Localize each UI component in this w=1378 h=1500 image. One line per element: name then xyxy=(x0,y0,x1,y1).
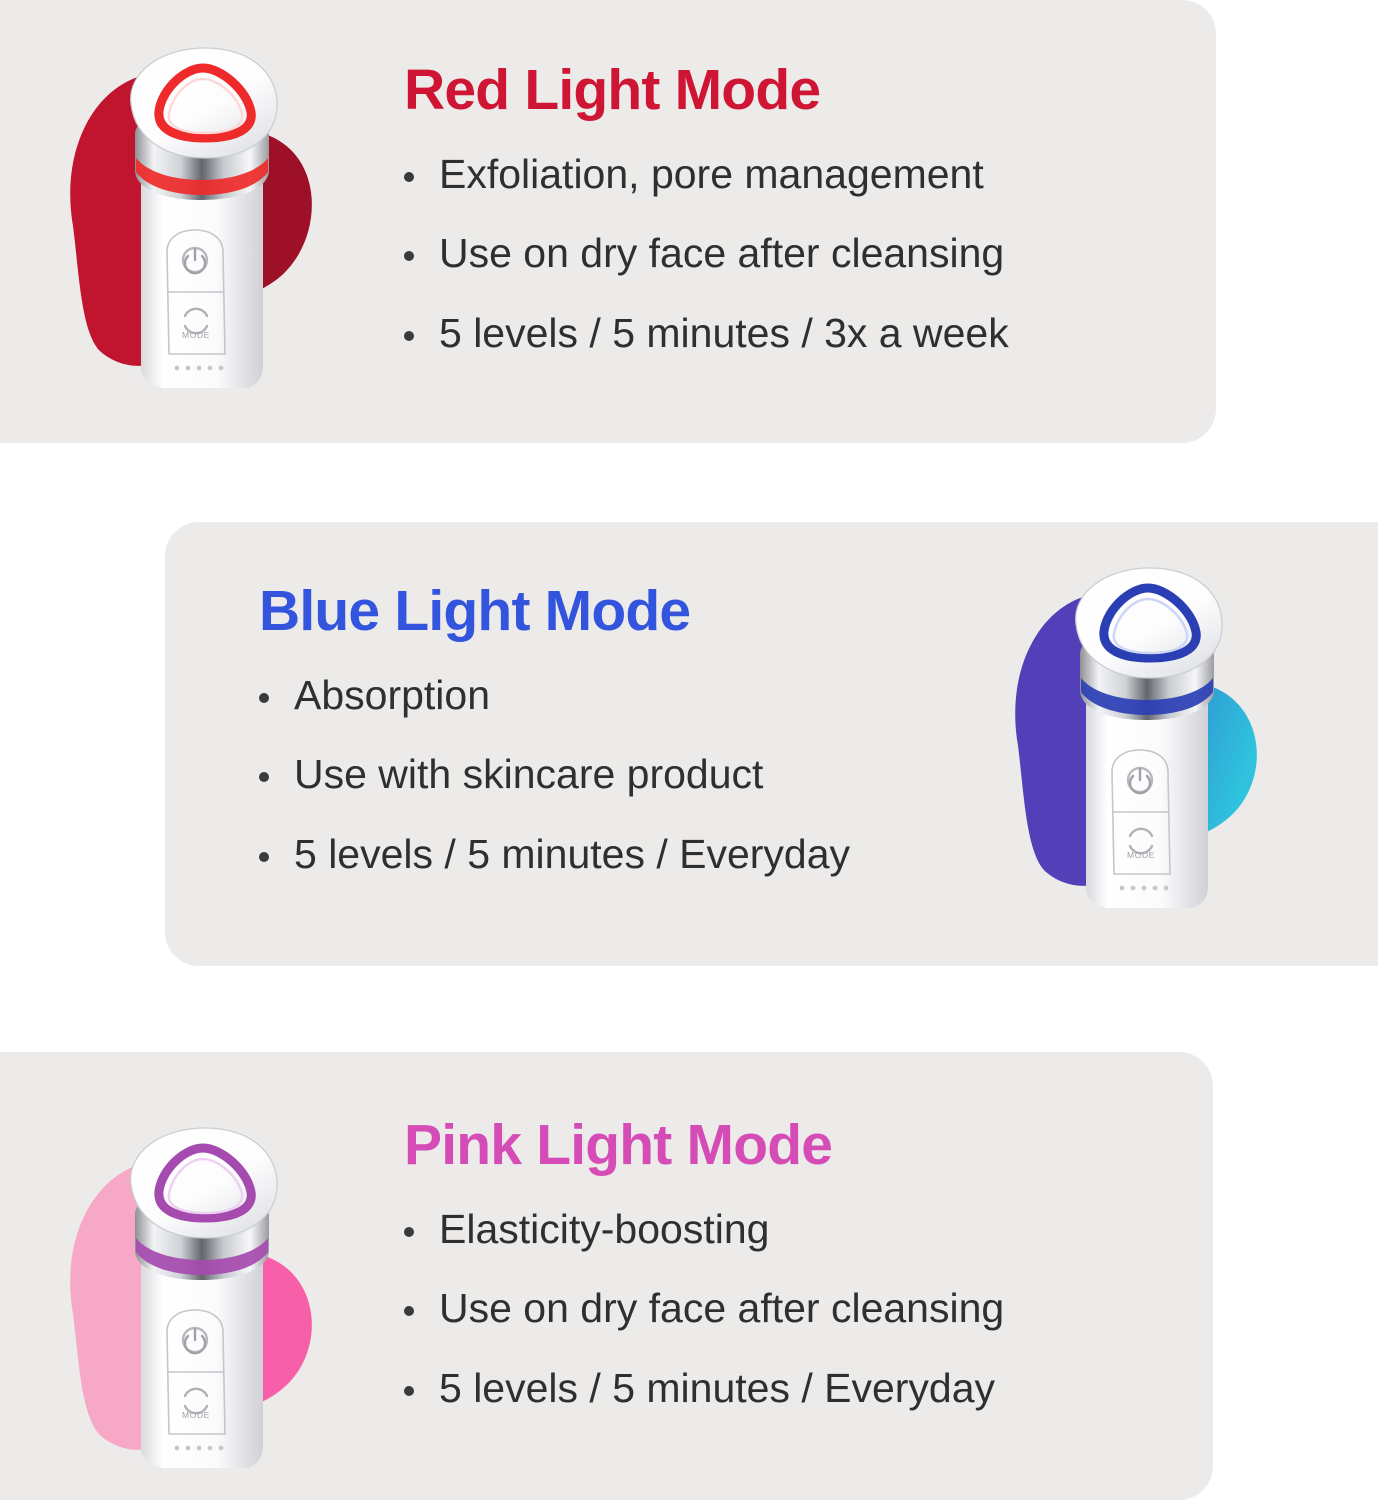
device-body-pink: MODE xyxy=(131,1128,277,1468)
list-item-label: Absorption xyxy=(294,674,490,717)
list-item: Elasticity-boosting xyxy=(404,1208,1004,1251)
device-illustration-pink: MODE xyxy=(55,1118,345,1468)
section-title-blue: Blue Light Mode xyxy=(259,583,850,640)
device-illustration-blue: MODE xyxy=(1000,558,1290,908)
bullet-dot-icon xyxy=(404,1306,414,1316)
list-item: Use on dry face after cleansing xyxy=(404,232,1009,275)
list-item-label: 5 levels / 5 minutes / 3x a week xyxy=(439,312,1009,355)
list-item-label: 5 levels / 5 minutes / Everyday xyxy=(294,833,850,876)
bullet-dot-icon xyxy=(404,172,414,182)
bullet-dot-icon xyxy=(259,772,269,782)
bullet-dot-icon xyxy=(259,852,269,862)
list-item: 5 levels / 5 minutes / Everyday xyxy=(404,1367,1004,1410)
bullet-dot-icon xyxy=(259,693,269,703)
mode-label-pink: MODE xyxy=(182,1410,210,1420)
device-illustration-red: MODE xyxy=(55,38,345,388)
section-title-red: Red Light Mode xyxy=(404,62,1009,119)
device-body-blue: MODE xyxy=(1076,568,1222,908)
list-item-label: 5 levels / 5 minutes / Everyday xyxy=(439,1367,995,1410)
device-body-red: MODE xyxy=(131,48,277,388)
mode-label-blue: MODE xyxy=(1127,850,1155,860)
bullet-dot-icon xyxy=(404,251,414,261)
bullet-dot-icon xyxy=(404,331,414,341)
bullet-dot-icon xyxy=(404,1227,414,1237)
list-item: 5 levels / 5 minutes / 3x a week xyxy=(404,312,1009,355)
list-item-label: Elasticity-boosting xyxy=(439,1208,769,1251)
feature-list-blue: Absorption Use with skincare product 5 l… xyxy=(259,674,850,876)
text-block-blue-light-mode: Blue Light Mode Absorption Use with skin… xyxy=(259,583,850,876)
feature-list-red: Exfoliation, pore management Use on dry … xyxy=(404,153,1009,355)
section-title-pink: Pink Light Mode xyxy=(404,1117,1004,1174)
list-item-label: Use with skincare product xyxy=(294,753,763,796)
list-item: Exfoliation, pore management xyxy=(404,153,1009,196)
list-item: Use with skincare product xyxy=(259,753,850,796)
feature-list-pink: Elasticity-boosting Use on dry face afte… xyxy=(404,1208,1004,1410)
list-item: 5 levels / 5 minutes / Everyday xyxy=(259,833,850,876)
text-block-pink-light-mode: Pink Light Mode Elasticity-boosting Use … xyxy=(404,1117,1004,1410)
list-item-label: Use on dry face after cleansing xyxy=(439,1287,1004,1330)
list-item: Absorption xyxy=(259,674,850,717)
list-item: Use on dry face after cleansing xyxy=(404,1287,1004,1330)
text-block-red-light-mode: Red Light Mode Exfoliation, pore managem… xyxy=(404,62,1009,355)
list-item-label: Use on dry face after cleansing xyxy=(439,232,1004,275)
list-item-label: Exfoliation, pore management xyxy=(439,153,984,196)
mode-label-red: MODE xyxy=(182,330,210,340)
bullet-dot-icon xyxy=(404,1386,414,1396)
